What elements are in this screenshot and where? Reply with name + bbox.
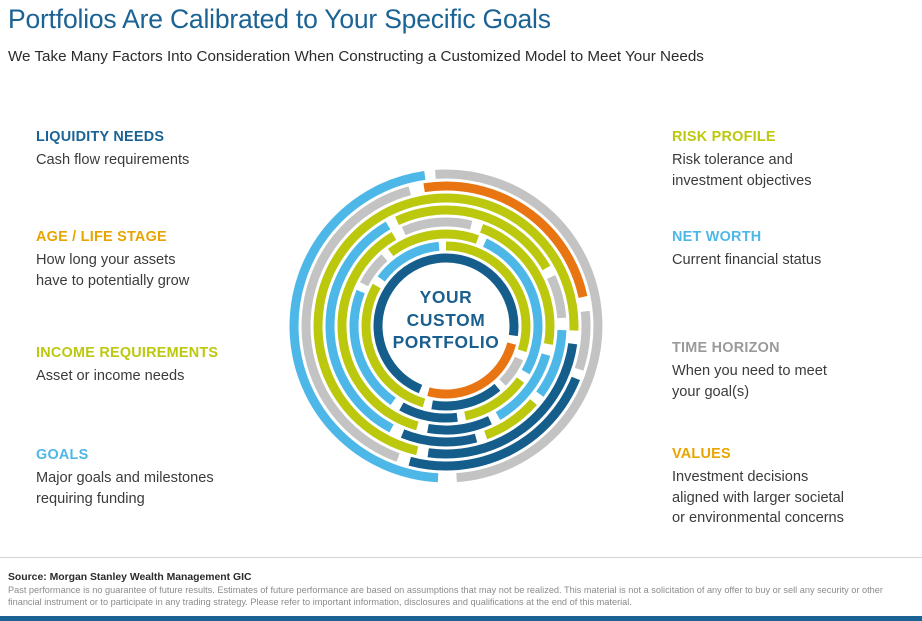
factor-desc-line: requiring funding xyxy=(36,489,296,510)
factor-label-net-worth: NET WORTH xyxy=(672,228,922,247)
factor-desc-line: or environmental concerns xyxy=(672,508,922,529)
disclaimer-line: Past performance is no guarantee of futu… xyxy=(8,584,908,596)
factor-desc-income-requirements: Asset or income needs xyxy=(36,366,296,387)
factor-label-liquidity-needs: LIQUIDITY NEEDS xyxy=(36,128,296,147)
factor-desc-line: When you need to meet xyxy=(672,361,922,382)
factor-label-values: VALUES xyxy=(672,445,922,464)
factor-desc-line: How long your assets xyxy=(36,250,296,271)
factor-desc-liquidity-needs: Cash flow requirements xyxy=(36,150,296,171)
factor-values: VALUES Investment decisions aligned with… xyxy=(672,445,922,529)
factor-label-age-life-stage: AGE / LIFE STAGE xyxy=(36,228,296,247)
factor-desc-goals: Major goals and milestones requiring fun… xyxy=(36,468,296,509)
page-title: Portfolios Are Calibrated to Your Specif… xyxy=(8,2,914,36)
factor-desc-risk-profile: Risk tolerance and investment objectives xyxy=(672,150,922,191)
factor-label-line: REQUIREMENTS xyxy=(99,345,218,361)
factor-label-income-requirements: INCOME REQUIREMENTS xyxy=(36,344,296,363)
factor-desc-time-horizon: When you need to meet your goal(s) xyxy=(672,361,922,402)
footer-divider xyxy=(0,557,922,558)
factor-label-line: INCOME xyxy=(36,345,95,361)
bottom-accent-bar xyxy=(0,616,922,621)
ring-2-segment xyxy=(579,311,586,369)
factor-net-worth: NET WORTH Current financial status xyxy=(672,228,922,271)
factor-desc-line: Risk tolerance and xyxy=(672,150,922,171)
factor-label-goals: GOALS xyxy=(36,446,296,465)
factor-income-requirements: INCOME REQUIREMENTS Asset or income need… xyxy=(36,344,296,387)
factor-desc-line: Investment decisions xyxy=(672,467,922,488)
page-subtitle: We Take Many Factors Into Consideration … xyxy=(8,46,914,68)
source-line: Source: Morgan Stanley Wealth Management… xyxy=(8,571,908,584)
factor-liquidity-needs: LIQUIDITY NEEDS Cash flow requirements xyxy=(36,128,296,171)
ring-8-inner-segment xyxy=(428,344,511,394)
factor-desc-line: Major goals and milestones xyxy=(36,468,296,489)
factor-goals: GOALS Major goals and milestones requiri… xyxy=(36,446,296,509)
footer: Source: Morgan Stanley Wealth Management… xyxy=(8,571,908,609)
factor-desc-net-worth: Current financial status xyxy=(672,250,922,271)
concentric-ring-diagram xyxy=(281,161,611,491)
factor-age-life-stage: AGE / LIFE STAGE How long your assets ha… xyxy=(36,228,296,291)
ring-5-segment xyxy=(404,222,471,231)
factor-risk-profile: RISK PROFILE Risk tolerance and investme… xyxy=(672,128,922,191)
factor-desc-line: Cash flow requirements xyxy=(36,150,296,171)
factor-desc-line: Current financial status xyxy=(672,250,922,271)
header: Portfolios Are Calibrated to Your Specif… xyxy=(8,2,914,68)
factor-label-risk-profile: RISK PROFILE xyxy=(672,128,922,147)
factor-desc-line: have to potentially grow xyxy=(36,271,296,292)
factor-desc-line: Asset or income needs xyxy=(36,366,296,387)
disclaimer-line: financial instrument or to participate i… xyxy=(8,596,908,608)
ring-diagram-svg xyxy=(281,161,611,491)
factor-desc-line: aligned with larger societal xyxy=(672,488,922,509)
factor-desc-line: investment objectives xyxy=(672,171,922,192)
factor-label-time-horizon: TIME HORIZON xyxy=(672,339,922,358)
ring-4-segment xyxy=(403,434,476,442)
factor-desc-age-life-stage: How long your assets have to potentially… xyxy=(36,250,296,291)
factor-time-horizon: TIME HORIZON When you need to meet your … xyxy=(672,339,922,402)
factor-desc-values: Investment decisions aligned with larger… xyxy=(672,467,922,529)
factor-desc-line: your goal(s) xyxy=(672,382,922,403)
